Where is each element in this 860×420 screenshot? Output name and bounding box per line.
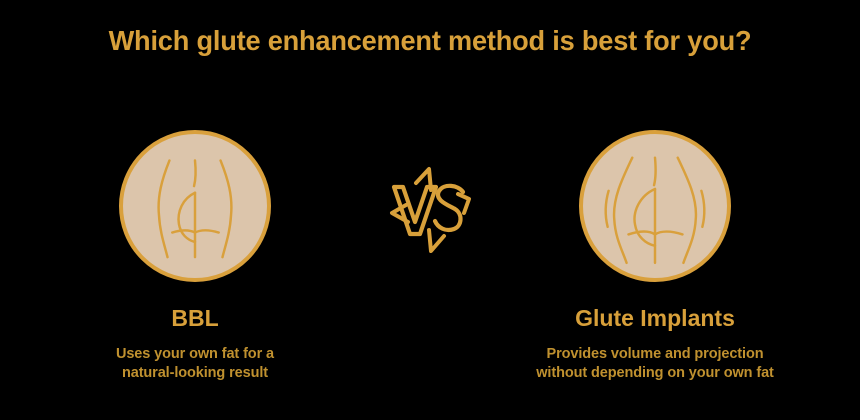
vs-divider	[370, 150, 490, 270]
glute-implants-circle	[579, 130, 731, 282]
glute-implants-illustration-wrap	[579, 130, 731, 282]
option-label-bbl: BBL	[15, 305, 375, 331]
description-line: natural-looking result	[15, 364, 375, 383]
option-card-glute-implants: Glute Implants Provides volume and proje…	[475, 130, 835, 383]
description-line: without depending on your own fat	[475, 364, 835, 383]
infographic-canvas: Which glute enhancement method is best f…	[0, 0, 860, 420]
description-line: Provides volume and projection	[475, 345, 835, 364]
bbl-circle	[119, 130, 271, 282]
vs-star-burst-icon	[370, 150, 490, 270]
option-label-glute-implants: Glute Implants	[475, 305, 835, 331]
description-line: Uses your own fat for a	[15, 345, 375, 364]
option-description-glute-implants: Provides volume and projection without d…	[475, 345, 835, 383]
option-card-bbl: BBL Uses your own fat for a natural-look…	[15, 130, 375, 383]
page-title: Which glute enhancement method is best f…	[13, 24, 847, 58]
bbl-illustration-wrap	[119, 130, 271, 282]
option-description-bbl: Uses your own fat for a natural-looking …	[15, 345, 375, 383]
